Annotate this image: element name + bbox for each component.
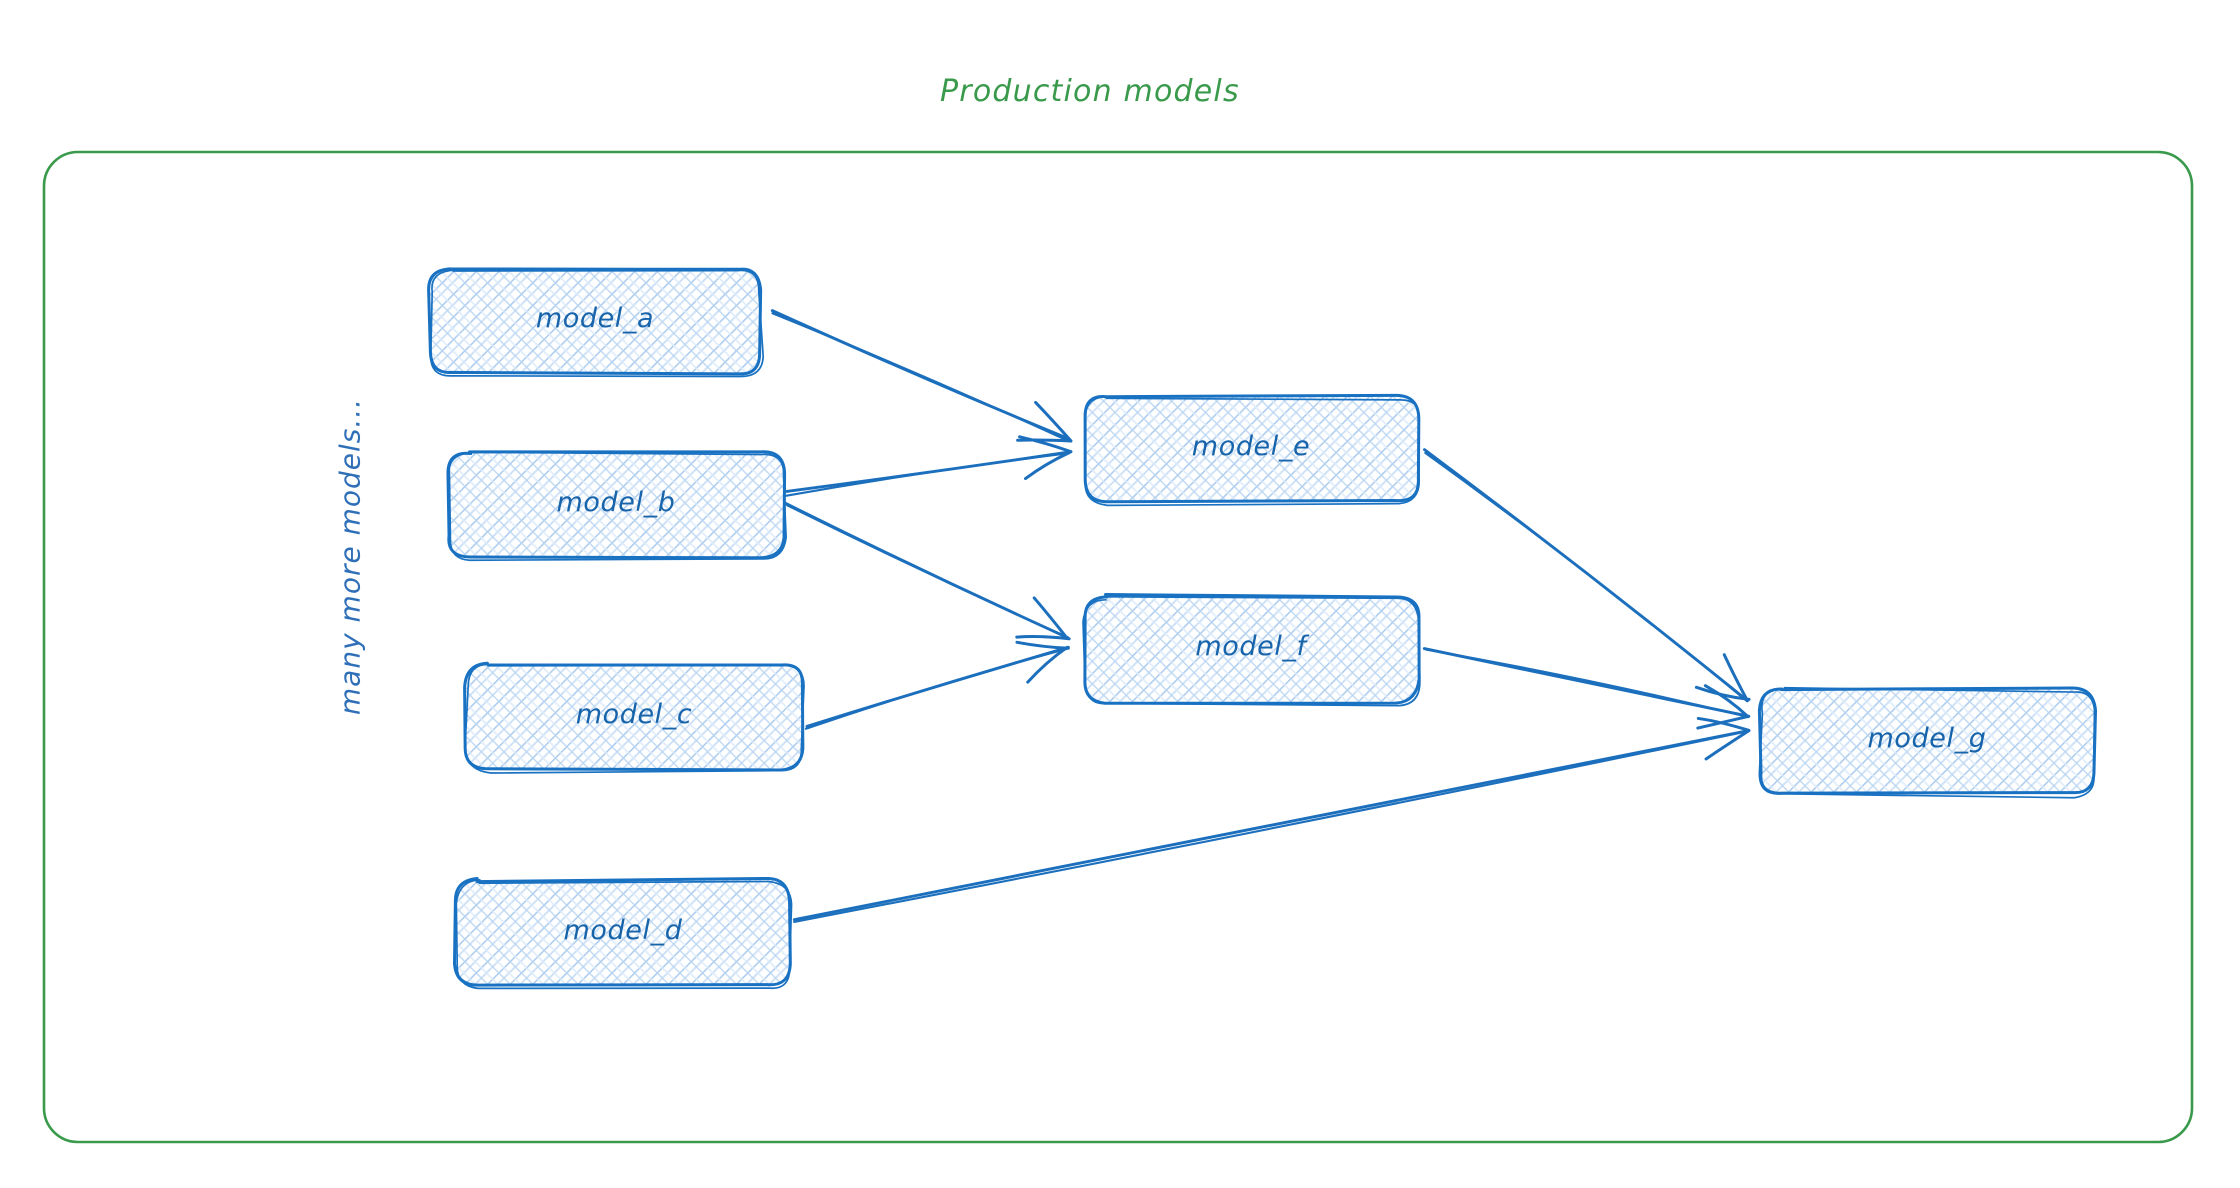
- node-model_d[interactable]: [455, 878, 792, 988]
- group-title: Production models: [940, 74, 1240, 109]
- edge-d-g-stroke-1: [794, 731, 1748, 920]
- edge-b-e[interactable]: [786, 437, 1071, 496]
- node-fill-cross: [466, 664, 802, 770]
- node-model_a[interactable]: [429, 268, 764, 376]
- edge-c-f-arrowhead-barb-2: [1017, 642, 1068, 648]
- edge-b-e-stroke-2: [786, 453, 1069, 496]
- node-model_g[interactable]: [1759, 688, 2095, 798]
- node-fill-cross: [1760, 688, 2094, 794]
- edge-d-g-arrowhead-barb-2: [1698, 718, 1748, 730]
- edge-b-f-arrowhead-barb-2: [1034, 598, 1067, 639]
- node-fill-cross: [1084, 596, 1418, 702]
- edge-e-g[interactable]: [1424, 450, 1749, 702]
- node-fill-cross: [456, 880, 790, 986]
- node-model_e[interactable]: [1084, 395, 1419, 505]
- node-model_f[interactable]: [1083, 595, 1420, 706]
- many-more-models-note: many more models...: [334, 397, 367, 717]
- edge-b-f[interactable]: [785, 503, 1069, 639]
- edge-c-f-stroke-2: [806, 648, 1069, 728]
- edge-e-g-stroke-2: [1425, 453, 1747, 701]
- node-model_b[interactable]: [448, 452, 786, 560]
- edge-a-e-arrowhead-barb-1: [1018, 440, 1071, 441]
- node-fill-cross: [1084, 396, 1418, 502]
- edge-d-g[interactable]: [794, 718, 1749, 922]
- node-model_c[interactable]: [465, 663, 804, 773]
- node-fill-cross: [448, 452, 784, 558]
- edge-a-e[interactable]: [772, 311, 1071, 442]
- edge-e-g-arrowhead-barb-2: [1724, 655, 1747, 701]
- node-fill-cross: [430, 268, 760, 374]
- diagram-canvas: Production models many more models... mo…: [0, 0, 2240, 1188]
- edge-b-f-arrowhead-barb-1: [1017, 637, 1069, 639]
- edge-c-f[interactable]: [806, 642, 1069, 728]
- nodes-layer: [429, 268, 2096, 988]
